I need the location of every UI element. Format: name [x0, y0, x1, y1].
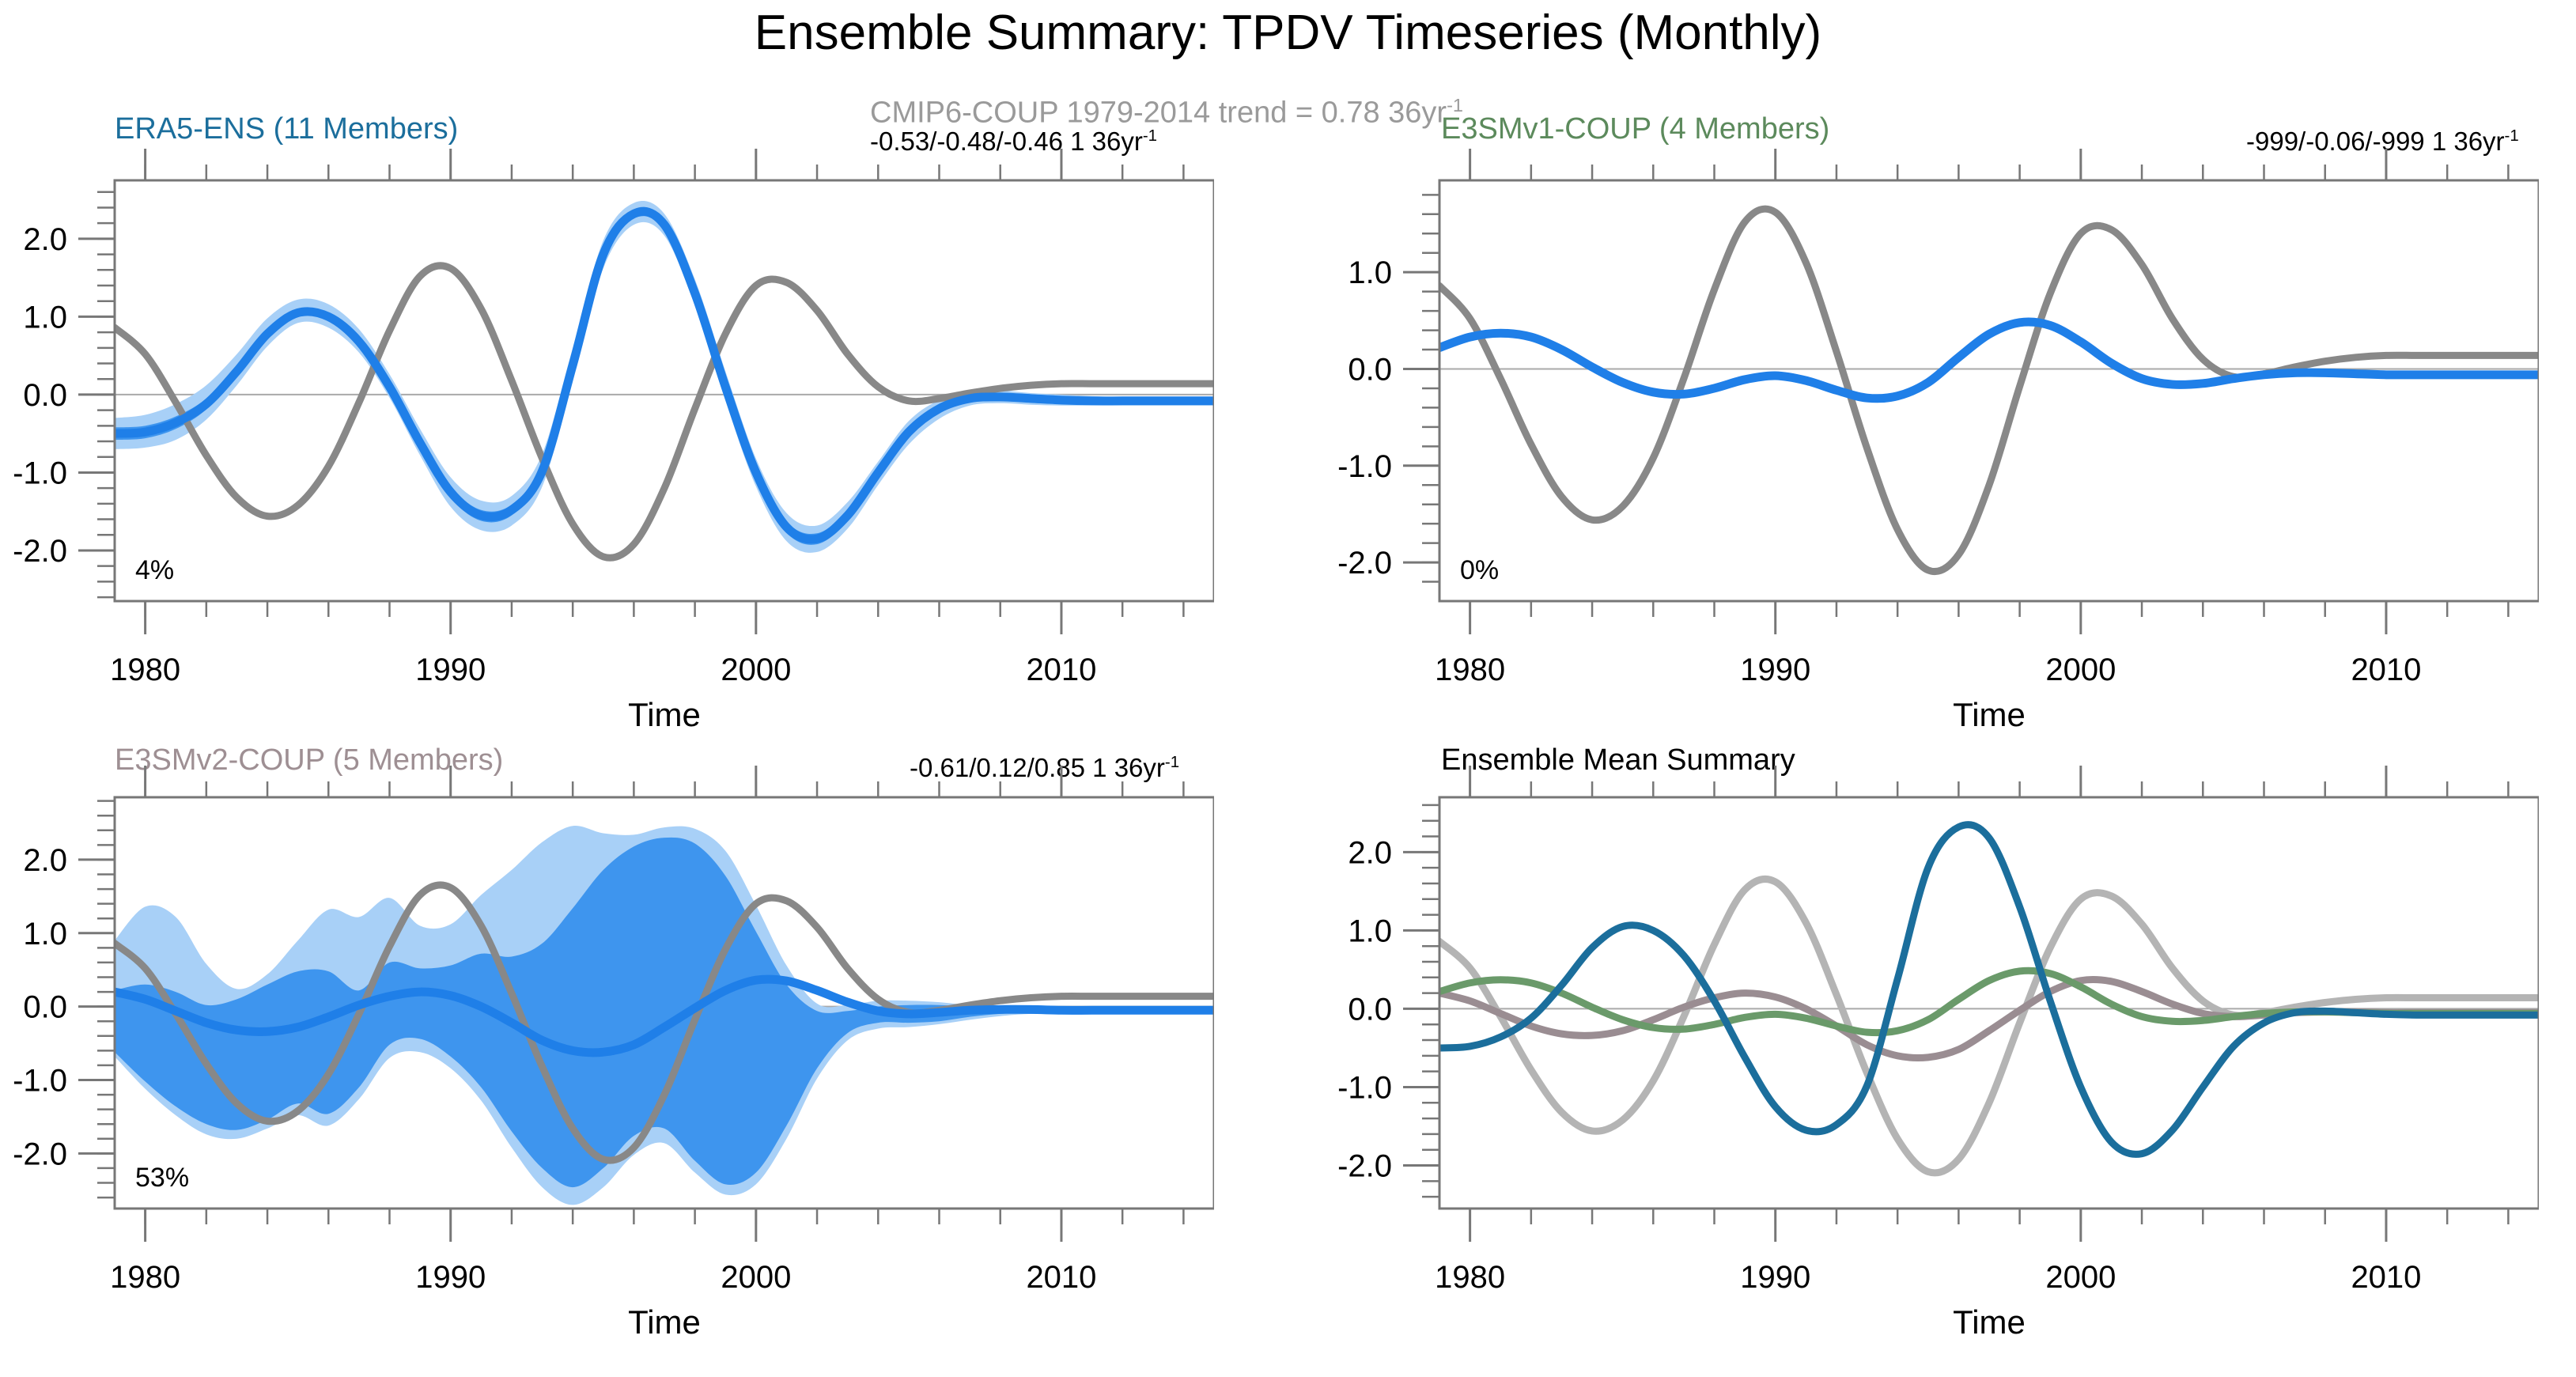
x-tick-label: 1990 [1740, 1260, 1810, 1295]
x-tick-label: 1980 [1435, 1260, 1505, 1295]
x-axis-label-summary: Time [1439, 1303, 2539, 1341]
y-tick-label: -2.0 [1337, 1149, 1392, 1184]
panel-summary: Ensemble Mean Summary 2.01.00.0-1.0-2.01… [0, 0, 2576, 1377]
y-tick-label: 0.0 [1348, 992, 1392, 1027]
y-tick-label: 2.0 [1348, 835, 1392, 870]
y-tick-label: -1.0 [1337, 1070, 1392, 1105]
figure-root: Ensemble Summary: TPDV Timeseries (Month… [0, 0, 2576, 1377]
x-tick-label: 2000 [2045, 1260, 2116, 1295]
y-tick-label: 1.0 [1348, 914, 1392, 948]
chart-svg-summary: 2.01.00.0-1.0-2.01980199020002010 [1250, 766, 2539, 1296]
x-tick-label: 2010 [2351, 1260, 2421, 1295]
y-axis: 2.01.00.0-1.0-2.0 [1337, 805, 1439, 1197]
plot-area-summary: 2.01.00.0-1.0-2.01980199020002010 [1250, 766, 2539, 1296]
plot-background [1439, 797, 2539, 1209]
